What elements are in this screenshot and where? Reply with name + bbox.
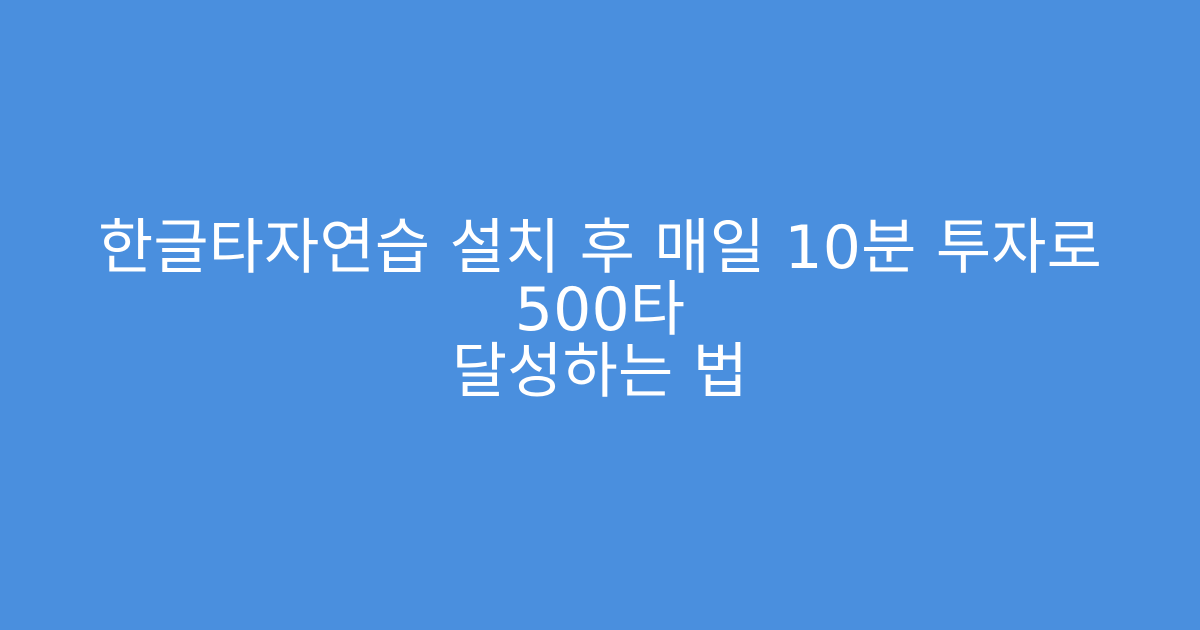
headline-block: 한글타자연습 설치 후 매일 10분 투자로 500타 달성하는 법	[0, 217, 1200, 403]
page-title: 한글타자연습 설치 후 매일 10분 투자로 500타 달성하는 법	[56, 217, 1144, 403]
share-card: 한글타자연습 설치 후 매일 10분 투자로 500타 달성하는 법	[0, 0, 1200, 630]
